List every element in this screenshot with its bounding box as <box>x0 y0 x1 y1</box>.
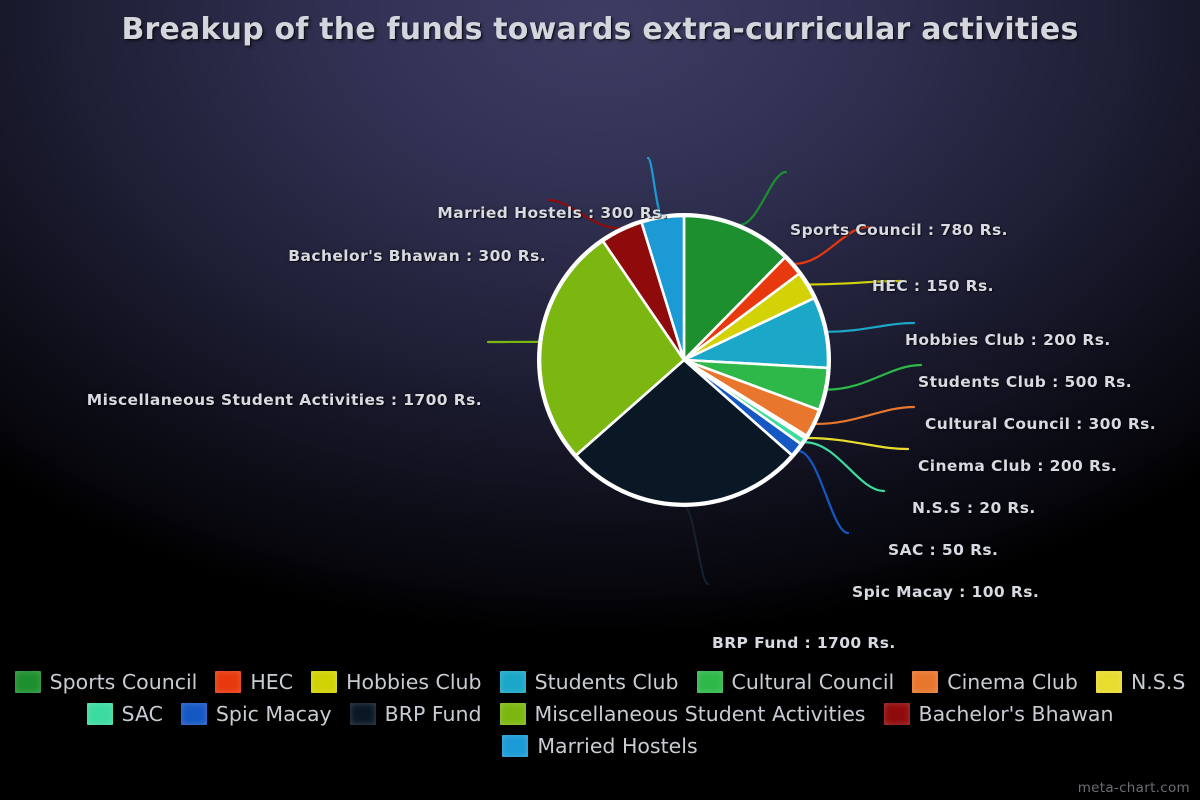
legend-swatch-icon <box>311 671 337 693</box>
legend-item-label: Spic Macay <box>216 704 332 725</box>
legend-item[interactable]: Spic Macay <box>181 700 332 728</box>
legend-item-label: Hobbies Club <box>346 672 482 693</box>
pie-label-n-s-s: N.S.S : 20 Rs. <box>912 499 1036 517</box>
legend-swatch-icon <box>215 671 241 693</box>
legend-item[interactable]: Married Hostels <box>502 732 697 760</box>
chart-title: Breakup of the funds towards extra-curri… <box>0 12 1200 47</box>
chart-legend: Sports CouncilHECHobbies ClubStudents Cl… <box>0 668 1200 760</box>
legend-item-label: Sports Council <box>50 672 198 693</box>
legend-item-label: Cultural Council <box>732 672 895 693</box>
pie-label-spic-macay: Spic Macay : 100 Rs. <box>852 583 1039 601</box>
legend-swatch-icon <box>912 671 938 693</box>
legend-swatch-icon <box>697 671 723 693</box>
legend-item[interactable]: Cinema Club <box>912 668 1078 696</box>
pie-label-students-club: Students Club : 500 Rs. <box>918 373 1132 391</box>
legend-item[interactable]: BRP Fund <box>350 700 482 728</box>
legend-item[interactable]: Bachelor's Bhawan <box>884 700 1114 728</box>
pie-label-married-hostels: Married Hostels : 300 Rs. <box>437 204 668 222</box>
legend-item[interactable]: Students Club <box>500 668 679 696</box>
legend-swatch-icon <box>502 735 528 757</box>
pie-chart-area: Sports Council : 780 Rs.HEC : 150 Rs.Hob… <box>0 60 1200 660</box>
site-watermark: meta-chart.com <box>1078 780 1190 796</box>
legend-swatch-icon <box>500 703 526 725</box>
legend-swatch-icon <box>500 671 526 693</box>
chart-canvas: Breakup of the funds towards extra-curri… <box>0 0 1200 800</box>
pie-label-hobbies-club: Hobbies Club : 200 Rs. <box>905 331 1111 349</box>
legend-swatch-icon <box>1096 671 1122 693</box>
pie-slices-layer: Sports Council : 780 Rs.HEC : 150 Rs.Hob… <box>0 60 1200 660</box>
legend-swatch-icon <box>15 671 41 693</box>
pie-label-bachelor-s-bhawan: Bachelor's Bhawan : 300 Rs. <box>288 247 546 265</box>
legend-item-label: BRP Fund <box>385 704 482 725</box>
legend-item-label: Married Hostels <box>537 736 697 757</box>
pie-label-miscellaneous-student-activities: Miscellaneous Student Activities : 1700 … <box>87 391 482 409</box>
legend-item-label: Students Club <box>535 672 679 693</box>
legend-item[interactable]: Hobbies Club <box>311 668 482 696</box>
legend-item-label: Cinema Club <box>947 672 1078 693</box>
legend-item[interactable]: N.S.S <box>1096 668 1185 696</box>
legend-item[interactable]: HEC <box>215 668 293 696</box>
pie-label-hec: HEC : 150 Rs. <box>872 277 994 295</box>
pie-label-brp-fund: BRP Fund : 1700 Rs. <box>712 634 896 652</box>
legend-swatch-icon <box>350 703 376 725</box>
legend-item[interactable]: Miscellaneous Student Activities <box>500 700 866 728</box>
legend-item-label: Bachelor's Bhawan <box>919 704 1114 725</box>
legend-item[interactable]: Cultural Council <box>697 668 895 696</box>
legend-item-label: SAC <box>122 704 163 725</box>
legend-item-label: Miscellaneous Student Activities <box>535 704 866 725</box>
pie-label-cultural-council: Cultural Council : 300 Rs. <box>925 415 1156 433</box>
legend-item-label: HEC <box>250 672 293 693</box>
legend-item[interactable]: Sports Council <box>15 668 198 696</box>
legend-swatch-icon <box>181 703 207 725</box>
pie-label-cinema-club: Cinema Club : 200 Rs. <box>918 457 1117 475</box>
legend-swatch-icon <box>87 703 113 725</box>
legend-item-label: N.S.S <box>1131 672 1185 693</box>
pie-label-sports-council: Sports Council : 780 Rs. <box>790 221 1008 239</box>
legend-swatch-icon <box>884 703 910 725</box>
legend-item[interactable]: SAC <box>87 700 163 728</box>
pie-label-sac: SAC : 50 Rs. <box>888 541 998 559</box>
